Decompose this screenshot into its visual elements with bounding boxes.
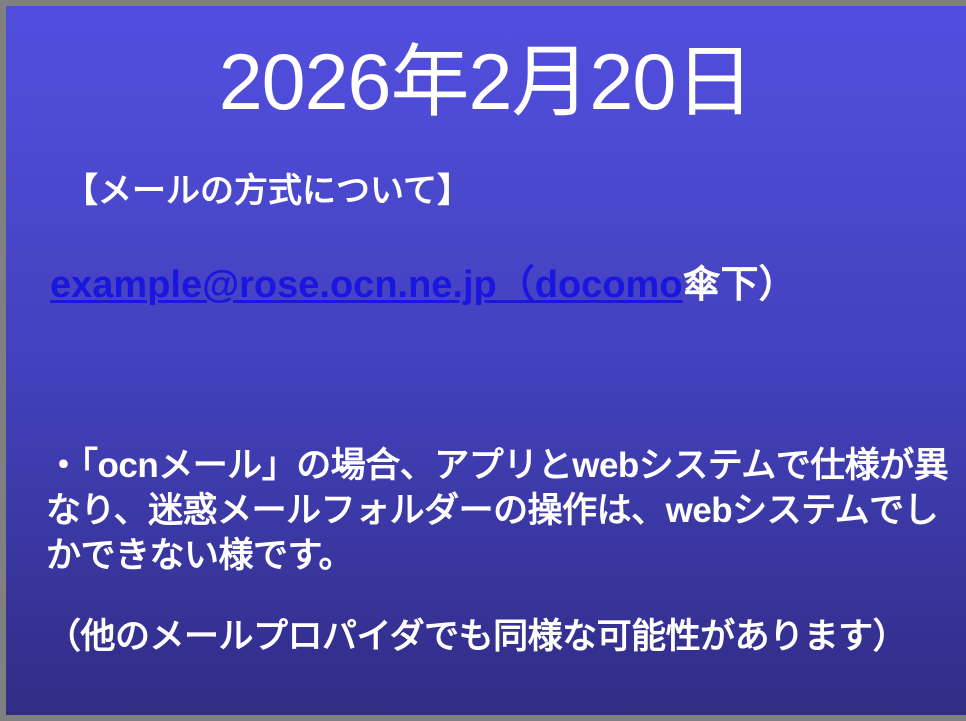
section-heading: 【メールの方式について】 (64, 173, 471, 210)
email-suffix-text: 傘下） (683, 264, 797, 306)
paragraph-one-line: ・「ocnメール」の場合、アプリとwebシステムで仕様が異 (46, 443, 936, 488)
slide-canvas: 2026年2月20日 【メールの方式について】 example@rose.ocn… (6, 6, 966, 715)
paragraph-one-line: かできない様です。 (46, 533, 936, 578)
email-hyperlink[interactable]: example@rose.ocn.ne.jp（docomo (50, 264, 683, 306)
slide-title: 2026年2月20日 (6, 42, 966, 121)
slide-frame: 2026年2月20日 【メールの方式について】 example@rose.ocn… (0, 0, 966, 721)
paragraph-one-line: なり、迷惑メールフォルダーの操作は、webシステムでし (46, 488, 936, 533)
paragraph-one: ・「ocnメール」の場合、アプリとwebシステムで仕様が異 なり、迷惑メールフォ… (46, 443, 936, 578)
paragraph-two: （他のメールプロパイダでも同様な可能性があります） (46, 614, 907, 659)
email-line: example@rose.ocn.ne.jp（docomo傘下） (50, 264, 797, 308)
